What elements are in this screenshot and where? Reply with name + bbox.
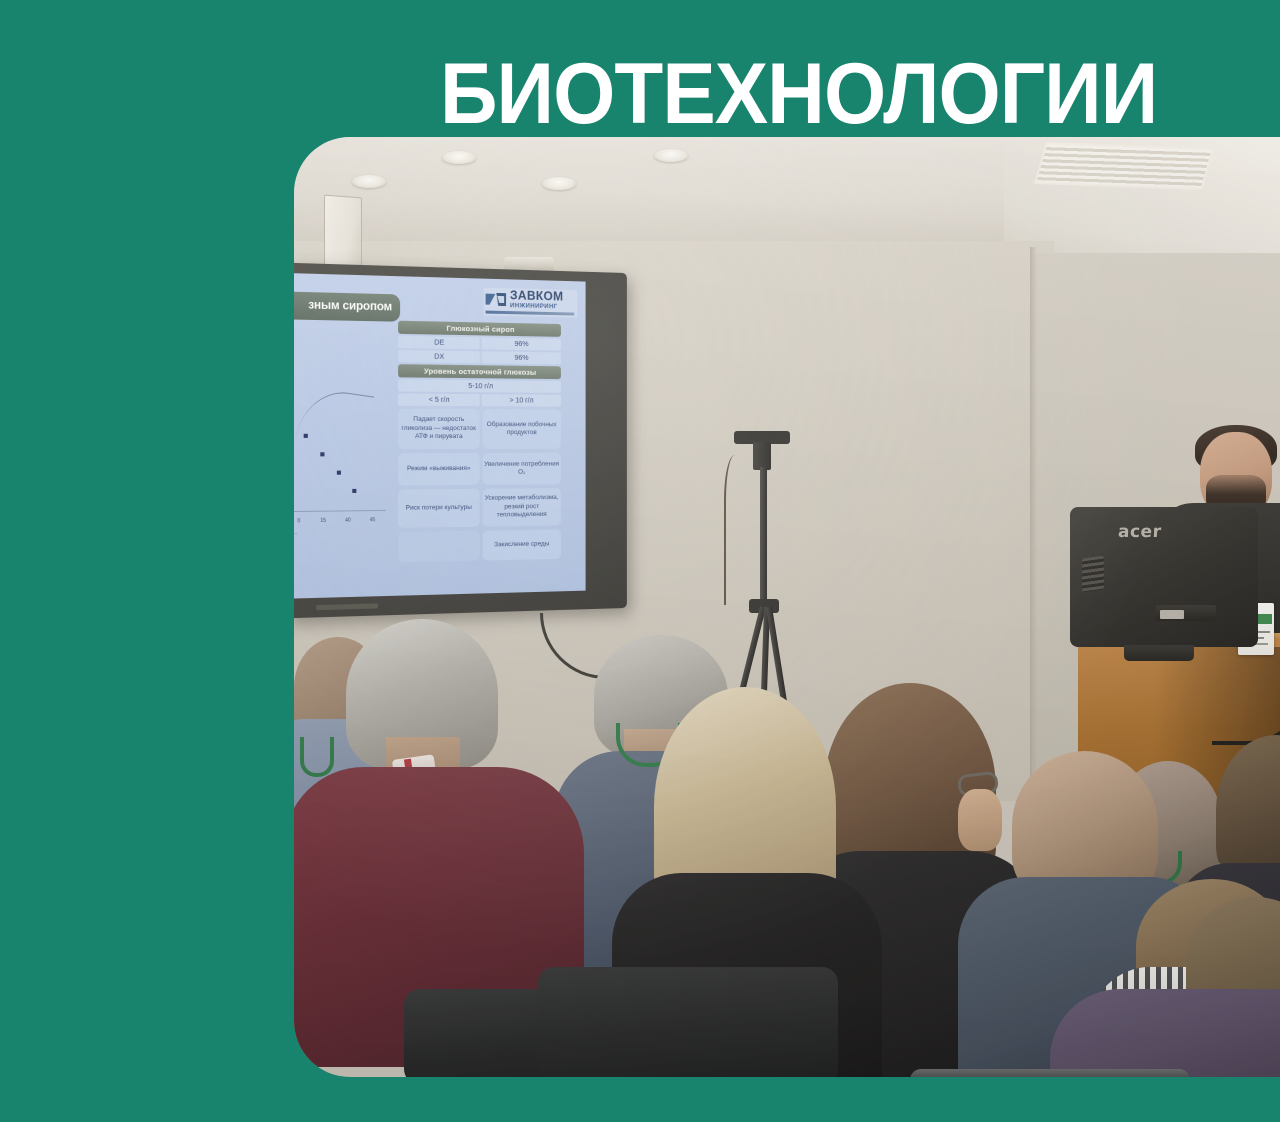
table-row: DE 96% bbox=[398, 336, 561, 351]
slide-table: Глюкозный сироп DE 96% DX 96% Уровень ос… bbox=[398, 321, 561, 563]
tv-screen: зным сиропом ЗАВКОМ ИНЖИНИРИНГ bbox=[294, 273, 586, 598]
table-cell-label: DE bbox=[398, 336, 480, 349]
hvac-vent-icon bbox=[1034, 142, 1214, 190]
chart-x-tick: 40 bbox=[345, 517, 351, 523]
monitor-plate bbox=[1160, 610, 1184, 619]
slide-consequence-grid: Падает скорость гликолиза — недостаток А… bbox=[398, 409, 561, 563]
monitor-brand-label: acer bbox=[1117, 522, 1162, 542]
downlight-icon bbox=[542, 177, 576, 190]
chart-point bbox=[352, 489, 356, 493]
downlight-icon bbox=[442, 151, 476, 164]
chart-x-tick: 45 bbox=[370, 517, 376, 523]
conference-photo: зным сиропом ЗАВКОМ ИНЖИНИРИНГ bbox=[294, 137, 1280, 1077]
tv-brand-label bbox=[316, 603, 378, 610]
table-row: DX 96% bbox=[398, 350, 561, 364]
table-row-ranges: < 5 г/л > 10 г/л bbox=[398, 393, 561, 406]
chart-point bbox=[320, 452, 324, 456]
chart-point bbox=[337, 471, 341, 475]
table-cell-value: 96% bbox=[482, 351, 561, 364]
auditorium-chair bbox=[538, 967, 838, 1077]
monitor-vent bbox=[1082, 555, 1104, 592]
wall-corner-shadow bbox=[1030, 247, 1037, 817]
chart-x-tick: 15 bbox=[320, 518, 326, 524]
consequence-column-right: Образование побочных продуктов Увеличени… bbox=[482, 409, 561, 560]
table-mid-value: 5-10 г/л bbox=[398, 379, 561, 393]
monitor-stand bbox=[1124, 645, 1194, 661]
slide-title: зным сиропом bbox=[294, 291, 400, 322]
consequence-box: Увеличение потребления O₂ bbox=[482, 453, 561, 485]
consequence-column-left: Падает скорость гликолиза — недостаток А… bbox=[398, 409, 479, 563]
logo-rule bbox=[486, 310, 575, 315]
logo-subtitle: ИНЖИНИРИНГ bbox=[510, 302, 558, 311]
chart-x-axis bbox=[294, 510, 386, 512]
range-low: < 5 г/л bbox=[398, 393, 480, 406]
monitor-cable bbox=[1212, 635, 1280, 745]
consequence-box: Режим «выживания» bbox=[398, 453, 479, 486]
tripod-wire bbox=[724, 455, 760, 605]
chair-rail bbox=[910, 1069, 1190, 1077]
consequence-box: Падает скорость гликолиза — недостаток А… bbox=[398, 409, 479, 449]
downlight-icon bbox=[352, 175, 386, 188]
range-high: > 10 г/л bbox=[482, 394, 561, 406]
chart-x-label: ... bbox=[294, 529, 297, 534]
presentation-display: зным сиропом ЗАВКОМ ИНЖИНИРИНГ bbox=[294, 263, 627, 619]
company-logo: ЗАВКОМ ИНЖИНИРИНГ bbox=[484, 288, 577, 318]
downlight-icon bbox=[654, 149, 688, 162]
table-cell-value: 96% bbox=[482, 337, 561, 350]
consequence-box: Риск потери культуры bbox=[398, 489, 479, 528]
table-header-glucose-syrup: Глюкозный сироп bbox=[398, 321, 561, 337]
slide-scatter-chart: 0 15 40 45 ... bbox=[294, 389, 388, 543]
consequence-box-empty bbox=[398, 531, 479, 563]
table-header-residual-glucose: Уровень остаточной глюкозы bbox=[398, 364, 561, 379]
lanyard bbox=[300, 737, 334, 777]
audience-member-hand bbox=[958, 789, 1002, 851]
page-title: БИОТЕХНОЛОГИИ bbox=[440, 48, 1277, 140]
tripod-column bbox=[760, 467, 767, 615]
zavkom-arrow-icon bbox=[486, 292, 507, 307]
tripod-neck bbox=[753, 442, 771, 470]
table-cell-label: DX bbox=[398, 350, 480, 363]
chart-point bbox=[304, 434, 308, 438]
audience-member-body bbox=[1050, 989, 1280, 1077]
chart-x-tick: 0 bbox=[297, 518, 300, 524]
consequence-box: Закисление среды bbox=[482, 529, 561, 560]
consequence-box: Образование побочных продуктов bbox=[482, 409, 561, 449]
presentation-slide: зным сиропом ЗАВКОМ ИНЖИНИРИНГ bbox=[294, 273, 586, 598]
consequence-box: Ускорение метаболизма, резкий рост тепло… bbox=[482, 488, 561, 527]
